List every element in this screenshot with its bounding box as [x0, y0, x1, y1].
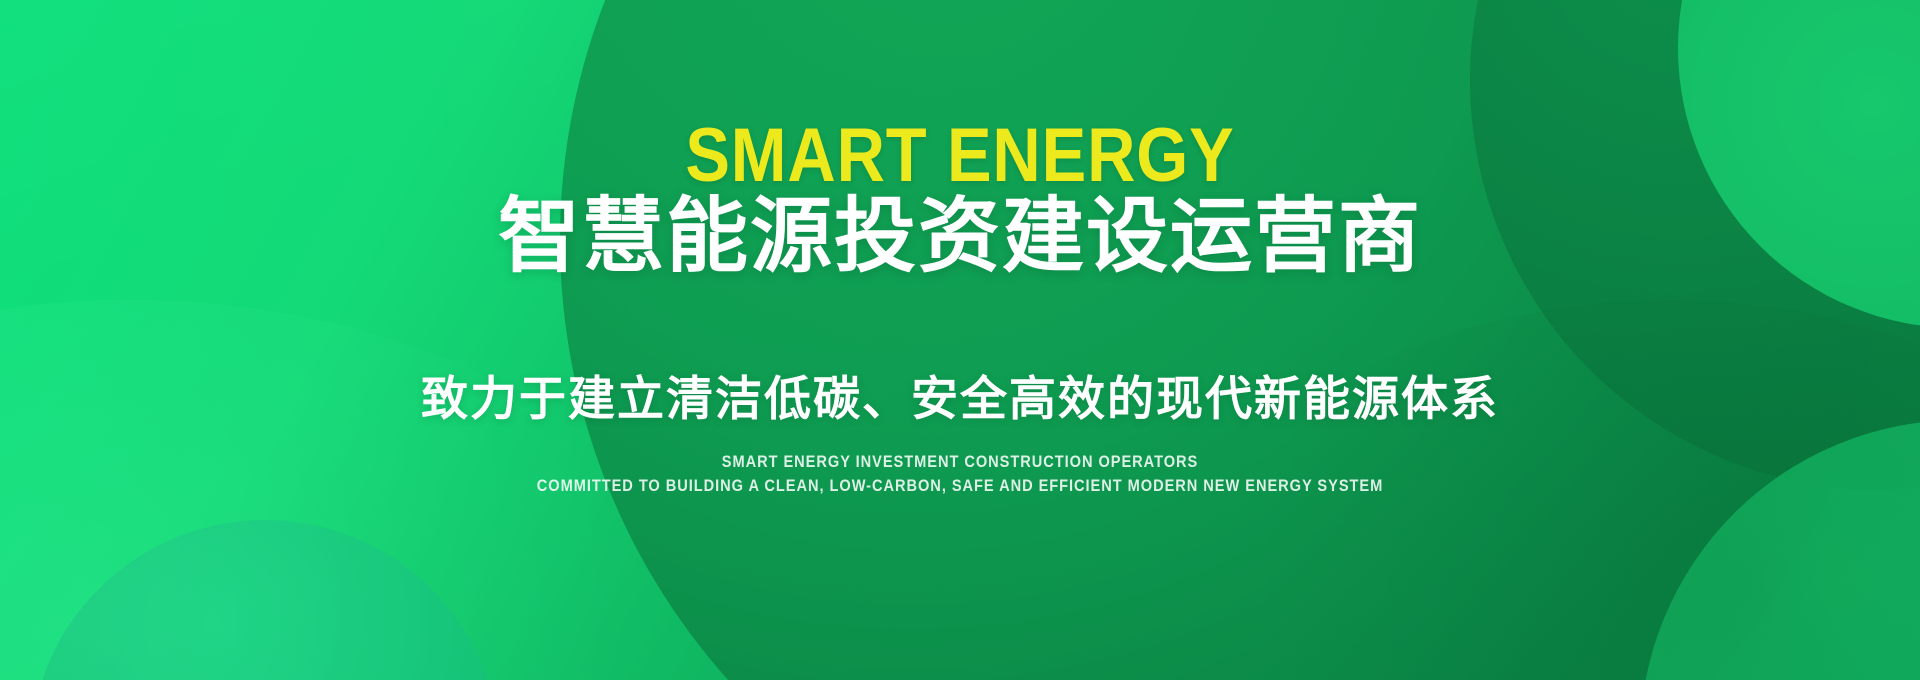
caption-english-line-1: SMART ENERGY INVESTMENT CONSTRUCTION OPE… — [134, 450, 1785, 475]
banner-content: SMART ENERGY 智慧能源投资建设运营商 致力于建立清洁低碳、安全高效的… — [0, 0, 1920, 680]
headline-english: SMART ENERGY — [115, 118, 1805, 194]
caption-english-line-2: COMMITTED TO BUILDING A CLEAN, LOW-CARBO… — [134, 474, 1785, 499]
subtitle-chinese: 致力于建立清洁低碳、安全高效的现代新能源体系 — [0, 375, 1920, 422]
hero-banner: SMART ENERGY 智慧能源投资建设运营商 致力于建立清洁低碳、安全高效的… — [0, 0, 1920, 680]
headline-chinese: 智慧能源投资建设运营商 — [0, 196, 1920, 278]
